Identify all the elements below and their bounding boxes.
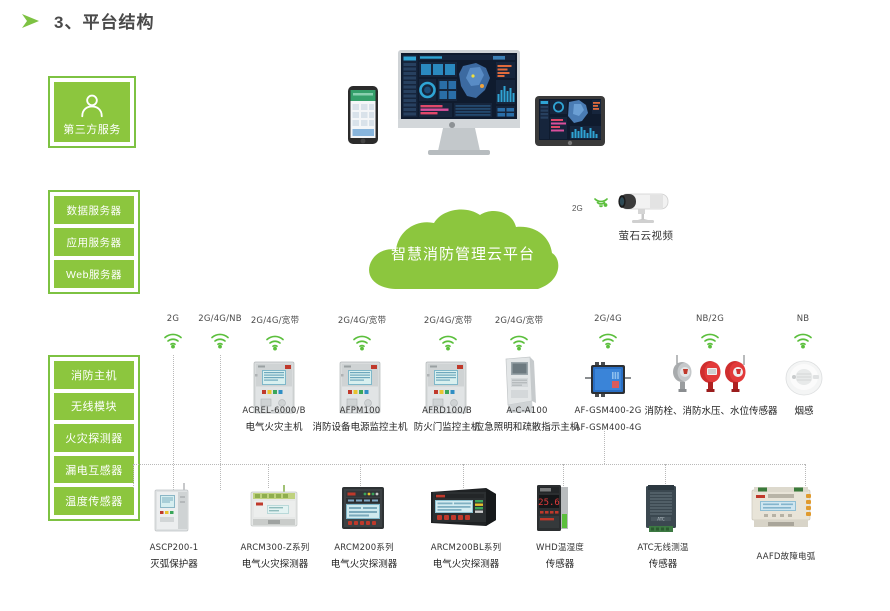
devtype-item-wireless-module[interactable]: 无线模块 <box>54 393 134 421</box>
tablet-dashboard-icon <box>535 96 605 146</box>
wireless-temp-module-icon: ATC <box>638 482 686 534</box>
device-name: 灭弧保护器 <box>128 558 220 572</box>
connector-line <box>604 428 605 464</box>
device-name: 传感器 <box>518 558 602 572</box>
device-model-alt: AF-GSM400-4G <box>560 422 656 435</box>
connector-bus-line <box>133 464 805 465</box>
device-caption-hydrant-sensors: 消防栓、消防水压、水位传感器 <box>640 405 782 419</box>
pressure-sensor-icon <box>665 352 755 400</box>
device-name: 电气火灾探测器 <box>225 558 325 572</box>
cloud-platform: 智慧消防管理云平台 <box>358 205 568 295</box>
network-column-5: 2G/4G/宽带 <box>476 314 562 351</box>
server-item-web[interactable]: Web服务器 <box>54 260 134 288</box>
panel-meter-icon <box>428 486 500 530</box>
device-caption-ascp200: ASCP200-1 灭弧保护器 <box>128 542 220 572</box>
smoke-detector-icon <box>783 358 825 400</box>
devtype-item-leakage-ct[interactable]: 漏电互感器 <box>54 456 134 484</box>
device-model: ARCM200系列 <box>316 542 412 555</box>
wireless-gateway-icon <box>584 360 632 400</box>
devtype-item-fire-detector[interactable]: 火灾探测器 <box>54 424 134 452</box>
device-model: AAFD故障电弧 <box>738 551 834 564</box>
network-label: 2G/4G <box>570 314 646 324</box>
network-column-2: 2G/4G/宽带 <box>232 314 318 351</box>
device-type-stack-box: 消防主机 无线模块 火灾探测器 漏电互感器 温度传感器 <box>48 355 140 521</box>
wifi-signal-icon <box>770 330 836 349</box>
din-rail-meter-icon <box>246 485 302 533</box>
network-label: 2G/4G/宽带 <box>319 314 405 326</box>
person-icon <box>79 93 105 119</box>
arrow-bullet-icon <box>20 11 42 31</box>
server-stack-box: 数据服务器 应用服务器 Web服务器 <box>48 190 140 294</box>
device-caption-smoke: 烟感 <box>775 405 833 419</box>
cloud-camera-group: 2G 萤石云视频 <box>572 188 682 240</box>
third-party-cell: 第三方服务 <box>54 82 130 142</box>
wifi-signal-icon <box>476 332 562 351</box>
connector-line <box>220 355 221 490</box>
wifi-signal-icon <box>319 332 405 351</box>
device-name: 消防栓、消防水压、水位传感器 <box>640 405 782 419</box>
smartphone-dashboard-icon <box>348 86 378 144</box>
third-party-label: 第三方服务 <box>63 121 121 137</box>
devtype-item-fire-host[interactable]: 消防主机 <box>54 361 134 389</box>
security-camera-icon <box>608 188 680 226</box>
wifi-signal-icon <box>672 330 748 349</box>
wifi-signal-icon <box>570 330 646 349</box>
imac-dashboard-icon <box>398 50 520 155</box>
server-item-app[interactable]: 应用服务器 <box>54 228 134 256</box>
wifi-signal-icon <box>232 332 318 351</box>
svg-text:25.6: 25.6 <box>538 498 560 508</box>
network-column-3: 2G/4G/宽带 <box>319 314 405 351</box>
devtype-item-temp-sensor[interactable]: 温度传感器 <box>54 487 134 515</box>
device-caption-whd: WHD温湿度 传感器 <box>518 542 602 572</box>
device-caption-arcm200: ARCM200系列 电气火灾探测器 <box>316 542 412 572</box>
network-column-6: 2G/4G <box>570 314 646 349</box>
network-column-8: NB <box>770 314 836 349</box>
panel-meter-icon <box>338 483 388 533</box>
arc-fault-detector-icon <box>748 484 816 532</box>
connector-line <box>133 464 134 488</box>
device-model: ARCM200BL系列 <box>416 542 516 555</box>
device-name: 烟感 <box>775 405 833 419</box>
hero-device-cluster <box>330 38 610 178</box>
network-column-7: NB/2G <box>672 314 748 349</box>
network-label: NB/2G <box>672 314 748 324</box>
device-name: 电气火灾探测器 <box>416 558 516 572</box>
device-caption-atc: ATC无线测温 传感器 <box>620 542 706 572</box>
device-name: 电气火灾探测器 <box>316 558 412 572</box>
svg-text:ATC: ATC <box>657 517 665 522</box>
connector-line <box>173 355 174 490</box>
network-label: 2G/4G/宽带 <box>232 314 318 326</box>
network-label: 2G/4G/宽带 <box>476 314 562 326</box>
device-model: ARCM300-Z系列 <box>225 542 325 555</box>
arc-protector-icon <box>148 483 196 535</box>
server-item-data[interactable]: 数据服务器 <box>54 196 134 224</box>
device-model: ASCP200-1 <box>128 542 220 555</box>
device-caption-arcm300z: ARCM300-Z系列 电气火灾探测器 <box>225 542 325 572</box>
page-title-text: 3、平台结构 <box>54 8 154 33</box>
connector-line <box>463 464 464 488</box>
camera-network-label: 2G <box>572 204 583 213</box>
camera-label: 萤石云视频 <box>601 228 691 243</box>
device-caption-aafd: AAFD故障电弧 <box>738 551 834 564</box>
network-label: NB <box>770 314 836 324</box>
device-caption-arcm200bl: ARCM200BL系列 电气火灾探测器 <box>416 542 516 572</box>
third-party-services-box[interactable]: 第三方服务 <box>48 76 136 148</box>
page-title: 3、平台结构 <box>20 8 154 33</box>
device-name: 传感器 <box>620 558 706 572</box>
device-model: WHD温湿度 <box>518 542 602 555</box>
cloud-platform-label: 智慧消防管理云平台 <box>358 243 568 264</box>
temp-humidity-controller-icon: 25.6 <box>532 482 572 534</box>
device-model: ATC无线测温 <box>620 542 706 555</box>
